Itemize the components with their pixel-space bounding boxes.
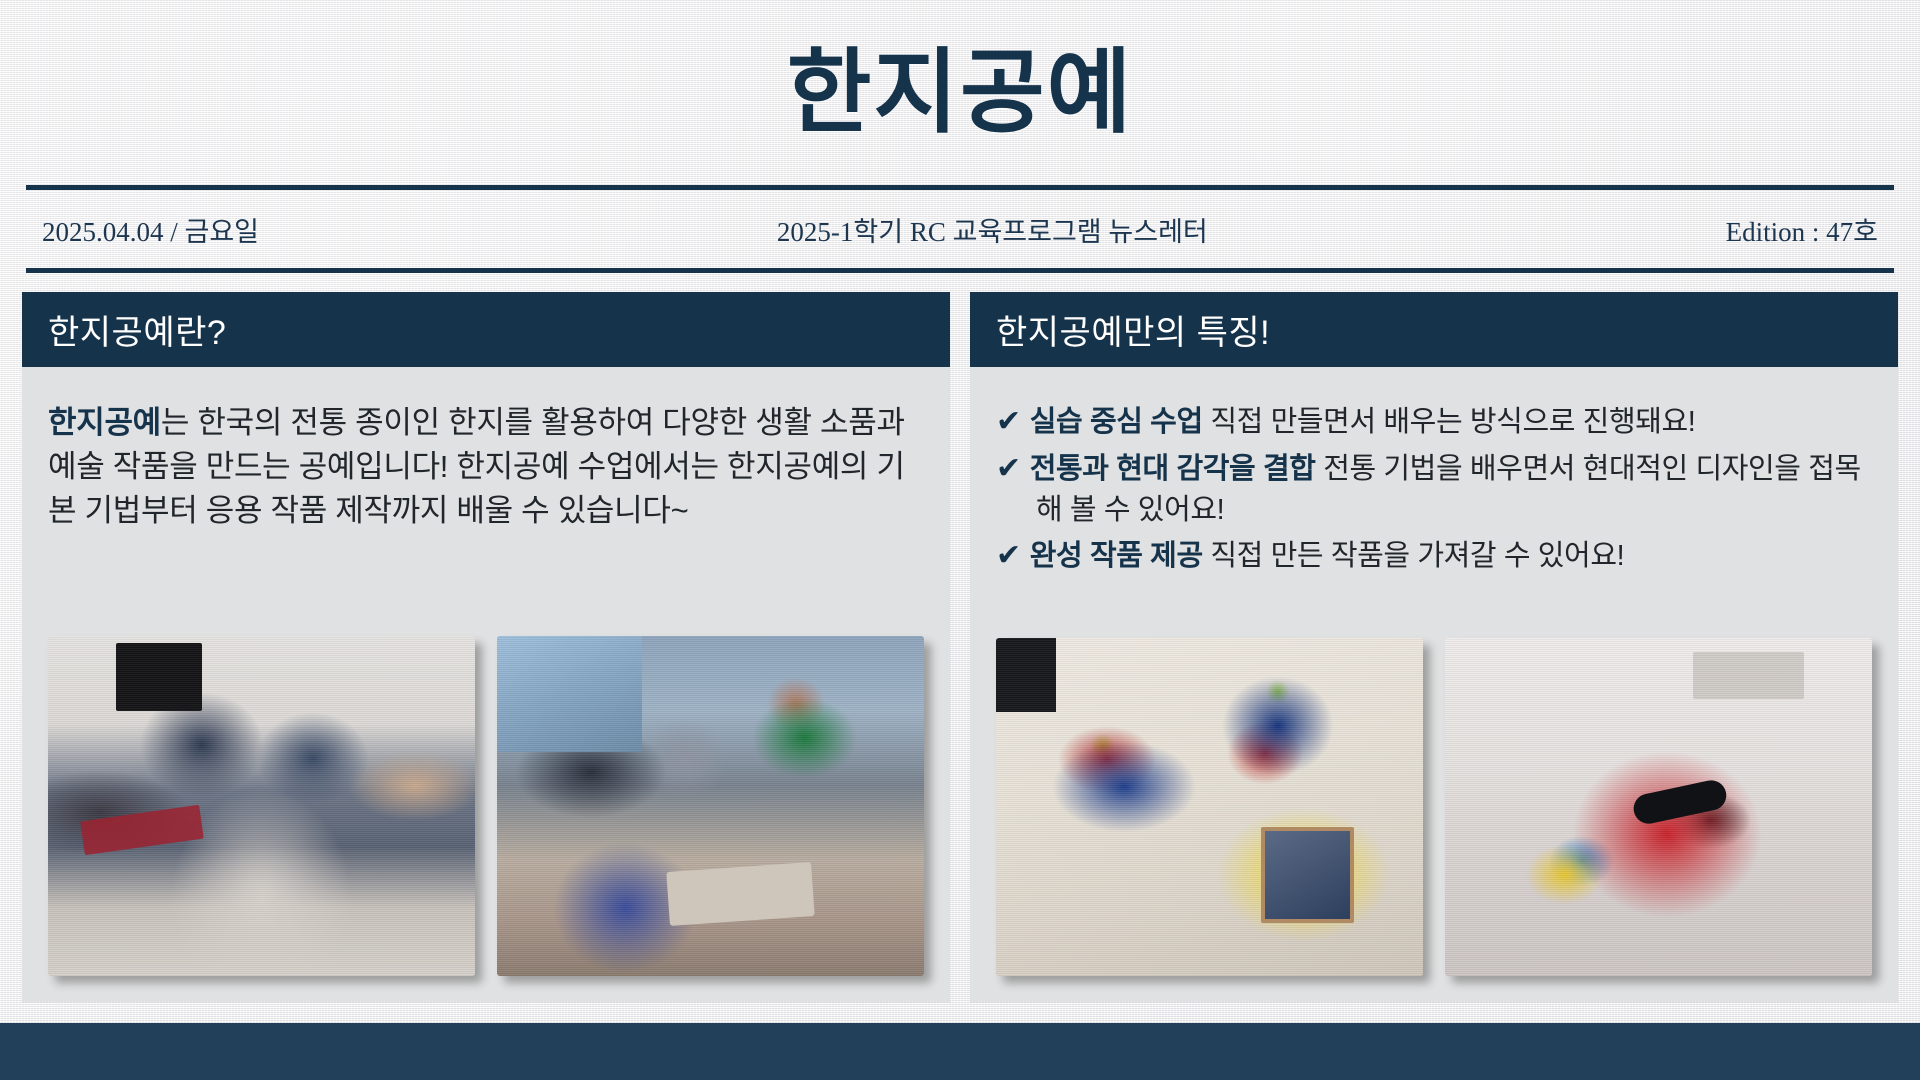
photo-instructor: [497, 636, 924, 976]
check-icon: ✔: [996, 539, 1021, 572]
photo-tissue-case: [1445, 638, 1872, 976]
photo-grain-overlay: [996, 638, 1423, 976]
intro-paragraph-text: 는 한국의 전통 종이인 한지를 활용하여 다양한 생활 소품과 예술 작품을 …: [48, 405, 905, 528]
feature-term: 전통과 현대 감각을 결합: [1030, 453, 1316, 485]
list-item: ✔전통과 현대 감각을 결합 전통 기법을 배우면서 현대적인 디자인을 접목해…: [996, 448, 1872, 532]
list-item: ✔완성 작품 제공 직접 만든 작품을 가져갈 수 있어요!: [996, 535, 1872, 578]
photo-grain-overlay: [1445, 638, 1872, 976]
photo-grain-overlay: [48, 636, 475, 976]
rule-bottom: [26, 268, 1894, 273]
photo-row-left: [48, 636, 924, 1002]
infobar: 2025.04.04 / 금요일 2025-1학기 RC 교육프로그램 뉴스레터…: [26, 190, 1894, 268]
panel-what-is-hanji: 한지공예란? 한지공예는 한국의 전통 종이인 한지를 활용하여 다양한 생활 …: [22, 292, 950, 1002]
issue-date: 2025.04.04 / 금요일: [26, 210, 259, 249]
intro-paragraph: 한지공예는 한국의 전통 종이인 한지를 활용하여 다양한 생활 소품과 예술 …: [48, 401, 924, 533]
list-item: ✔실습 중심 수업 직접 만들면서 배우는 방식으로 진행돼요!: [996, 401, 1872, 444]
content-columns: 한지공예란? 한지공예는 한국의 전통 종이인 한지를 활용하여 다양한 생활 …: [22, 292, 1898, 1002]
edition-number: Edition : 47호: [1726, 210, 1894, 249]
panel-title-right: 한지공예만의 특징!: [996, 305, 1270, 354]
check-icon: ✔: [996, 405, 1021, 438]
photo-row-right: [996, 638, 1872, 1002]
photo-classroom: [48, 636, 475, 976]
masthead: 한지공예: [0, 0, 1920, 186]
feature-list: ✔실습 중심 수업 직접 만들면서 배우는 방식으로 진행돼요! ✔전통과 현대…: [996, 401, 1872, 582]
feature-description: 직접 만든 작품을 가져갈 수 있어요!: [1203, 540, 1625, 572]
panel-body-left: 한지공예는 한국의 전통 종이인 한지를 활용하여 다양한 생활 소품과 예술 …: [22, 367, 950, 1002]
panel-body-right: ✔실습 중심 수업 직접 만들면서 배우는 방식으로 진행돼요! ✔전통과 현대…: [970, 367, 1898, 1002]
publication-name: 2025-1학기 RC 교육프로그램 뉴스레터: [259, 210, 1726, 249]
newsletter-page: 한지공예 2025.04.04 / 금요일 2025-1학기 RC 교육프로그램…: [0, 0, 1920, 1080]
feature-term: 실습 중심 수업: [1030, 406, 1203, 438]
feature-term: 완성 작품 제공: [1030, 540, 1203, 572]
photo-grain-overlay: [497, 636, 924, 976]
page-title: 한지공예: [787, 47, 1134, 139]
photo-hanji-boxes: [996, 638, 1423, 976]
panel-hanji-features: 한지공예만의 특징! ✔실습 중심 수업 직접 만들면서 배우는 방식으로 진행…: [970, 292, 1898, 1002]
panel-header-right: 한지공예만의 특징!: [970, 292, 1898, 367]
panel-header-left: 한지공예란?: [22, 292, 950, 367]
footer-bar: [0, 1023, 1920, 1080]
panel-title-left: 한지공예란?: [48, 305, 226, 354]
feature-description: 직접 만들면서 배우는 방식으로 진행돼요!: [1203, 406, 1696, 438]
intro-lead-term: 한지공예: [48, 405, 161, 440]
check-icon: ✔: [996, 452, 1021, 485]
